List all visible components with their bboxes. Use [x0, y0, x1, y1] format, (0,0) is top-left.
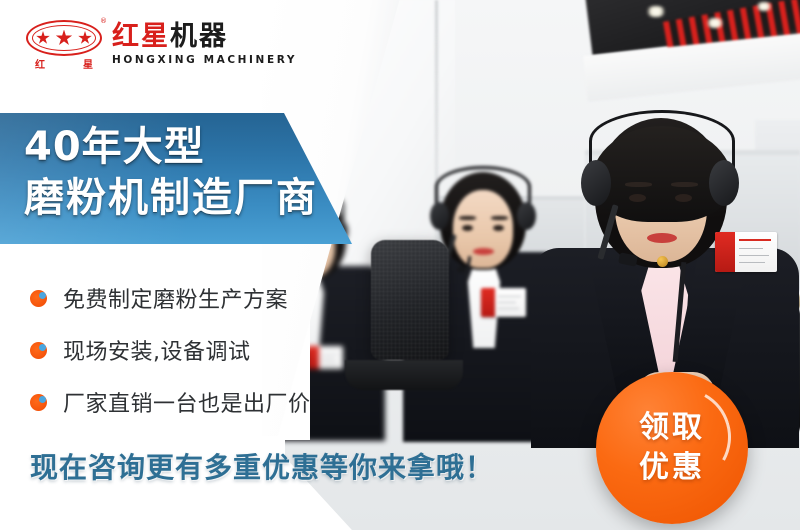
logo-mark-icon: ® 红 星	[26, 18, 102, 70]
bullet-dot-icon	[30, 290, 47, 307]
bullet-dot-icon	[30, 342, 47, 359]
ceiling-light-icon	[705, 18, 725, 28]
headset-band-icon	[589, 110, 735, 172]
office-chair-back	[371, 240, 449, 360]
headline-line-1: 40年大型	[24, 122, 334, 172]
ceiling-light-icon	[755, 2, 773, 11]
headset-earcup-icon	[709, 160, 739, 206]
list-item-label: 免费制定磨粉生产方案	[63, 282, 288, 314]
cta-line-1: 领取	[639, 408, 705, 448]
claim-discount-button[interactable]: 领取 优惠	[596, 372, 748, 524]
list-item: 厂家直销一台也是出厂价	[30, 376, 311, 428]
headset-earcup-icon	[581, 160, 611, 206]
star-icon	[36, 31, 50, 45]
badge-photo-strip	[481, 288, 495, 317]
headset-earcup-icon	[430, 202, 449, 230]
logo-name-cn: 红星机器	[112, 22, 297, 52]
logo-stars-icon	[36, 30, 92, 46]
id-badge	[307, 346, 343, 369]
list-item: 免费制定磨粉生产方案	[30, 272, 311, 324]
logo-wordmark: 红星机器 HONGXING MACHINERY	[112, 22, 297, 67]
registered-mark: ®	[100, 17, 107, 25]
eyebrow	[625, 182, 652, 187]
eyebrow	[459, 216, 476, 220]
feature-list: 免费制定磨粉生产方案 现场安装,设备调试 厂家直销一台也是出厂价	[30, 272, 311, 428]
eyebrow	[491, 216, 508, 220]
list-item: 现场安装,设备调试	[30, 324, 311, 376]
logo-mark-char-right: 星	[83, 56, 93, 71]
id-badge	[715, 232, 777, 272]
badge-line	[498, 296, 521, 297]
eye	[675, 194, 692, 202]
badge-line	[739, 239, 771, 241]
badge-line	[321, 358, 335, 359]
office-chair-armrest	[345, 360, 463, 390]
bullet-dot-icon	[30, 394, 47, 411]
list-item-label: 现场安装,设备调试	[63, 334, 251, 366]
logo-name-cn-black: 机器	[170, 21, 228, 52]
logo-name-en: HONGXING MACHINERY	[112, 53, 297, 67]
badge-line	[739, 262, 765, 263]
headset-band-icon	[435, 166, 531, 208]
badge-line	[321, 353, 339, 354]
headset-earcup-icon	[517, 202, 536, 230]
badge-line	[739, 255, 769, 256]
promo-banner: ® 红 星 红星机器 HONGXING MACHINERY 40年大型 磨粉机制…	[0, 0, 800, 530]
headline-line-2: 磨粉机制造厂商	[24, 172, 334, 224]
lips	[647, 233, 677, 243]
badge-line	[498, 308, 519, 309]
eye	[629, 194, 646, 202]
badge-line	[498, 302, 516, 303]
star-icon	[78, 31, 92, 45]
eye	[462, 225, 473, 231]
badge-photo-strip	[715, 232, 735, 272]
eye	[493, 225, 504, 231]
bottom-slogan: 现在咨询更有多重优惠等你来拿哦！	[30, 446, 494, 486]
necklace-pendant	[657, 256, 668, 267]
badge-line	[321, 363, 337, 364]
logo-mark-char-left: 红	[35, 56, 45, 71]
eyebrow	[671, 182, 698, 187]
badge-line	[739, 248, 763, 249]
lips	[473, 248, 494, 255]
id-badge	[481, 288, 526, 317]
star-icon	[56, 30, 73, 47]
logo-mark-subtext: 红 星	[26, 56, 102, 71]
logo[interactable]: ® 红 星 红星机器 HONGXING MACHINERY	[26, 18, 297, 70]
headline: 40年大型 磨粉机制造厂商	[24, 122, 334, 224]
ceiling-light-icon	[645, 6, 667, 17]
logo-name-cn-red: 红星	[112, 21, 170, 52]
cta-line-2: 优惠	[639, 448, 705, 488]
list-item-label: 厂家直销一台也是出厂价	[63, 386, 311, 418]
